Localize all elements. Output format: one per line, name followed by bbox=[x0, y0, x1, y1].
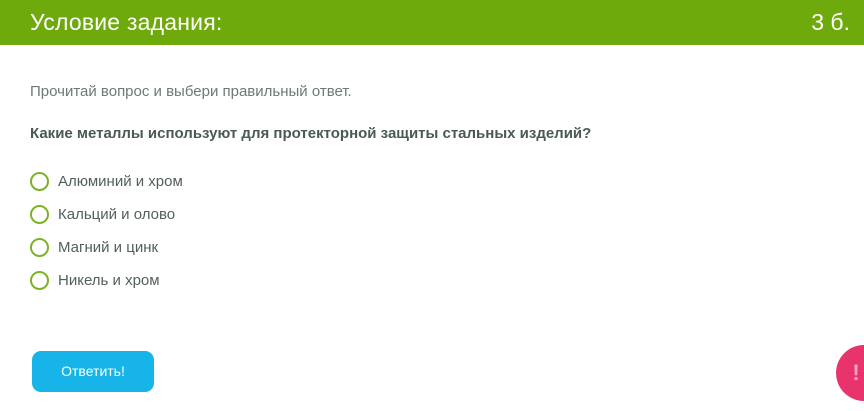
option-label: Кальций и олово bbox=[58, 206, 175, 224]
task-content: Прочитай вопрос и выбери правильный отве… bbox=[0, 45, 864, 411]
task-header: Условие задания: 3 б. bbox=[0, 0, 864, 45]
answer-options-list: Алюминий и хром Кальций и олово Магний и… bbox=[30, 143, 834, 292]
radio-button-icon[interactable] bbox=[30, 172, 49, 191]
option-row-2[interactable]: Кальций и олово bbox=[30, 203, 834, 226]
radio-button-icon[interactable] bbox=[30, 205, 49, 224]
question-text: Какие металлы используют для протекторно… bbox=[30, 102, 834, 144]
option-label: Никель и хром bbox=[58, 272, 160, 290]
exclamation-icon: ! bbox=[852, 362, 864, 384]
option-row-4[interactable]: Никель и хром bbox=[30, 269, 834, 292]
radio-button-icon[interactable] bbox=[30, 238, 49, 257]
option-row-3[interactable]: Магний и цинк bbox=[30, 236, 834, 259]
points-badge: 3 б. bbox=[811, 11, 856, 34]
submit-answer-button[interactable]: Ответить! bbox=[32, 351, 154, 392]
option-row-1[interactable]: Алюминий и хром bbox=[30, 170, 834, 193]
option-label: Магний и цинк bbox=[58, 239, 158, 257]
page-title: Условие задания: bbox=[30, 11, 222, 34]
radio-button-icon[interactable] bbox=[30, 271, 49, 290]
instruction-text: Прочитай вопрос и выбери правильный отве… bbox=[30, 45, 834, 102]
option-label: Алюминий и хром bbox=[58, 173, 183, 191]
